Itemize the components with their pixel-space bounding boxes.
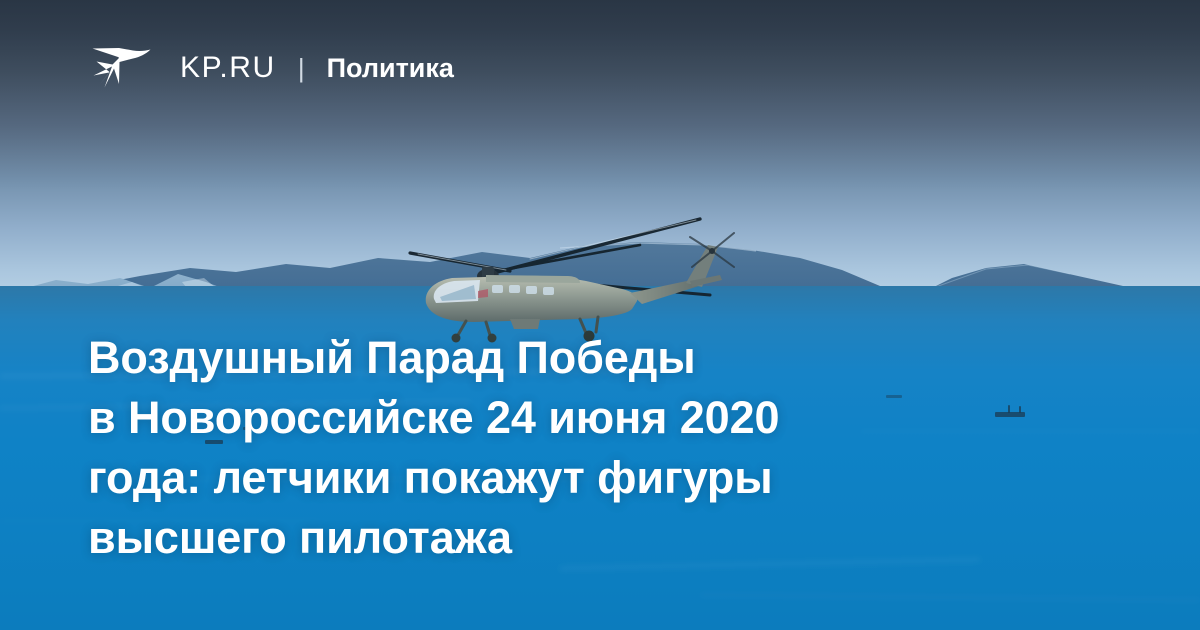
article-rubric-label[interactable]: Политика (327, 55, 454, 82)
site-brand-label[interactable]: KP.RU (180, 53, 276, 83)
swallow-bird-logo-icon[interactable] (88, 37, 154, 99)
article-headline: Воздушный Парад Победы в Новороссийске 2… (88, 328, 1048, 568)
site-header: KP.RU | Политика (88, 36, 454, 100)
social-share-card: KP.RU | Политика Воздушный Парад Победы … (0, 0, 1200, 630)
header-separator: | (298, 55, 305, 81)
